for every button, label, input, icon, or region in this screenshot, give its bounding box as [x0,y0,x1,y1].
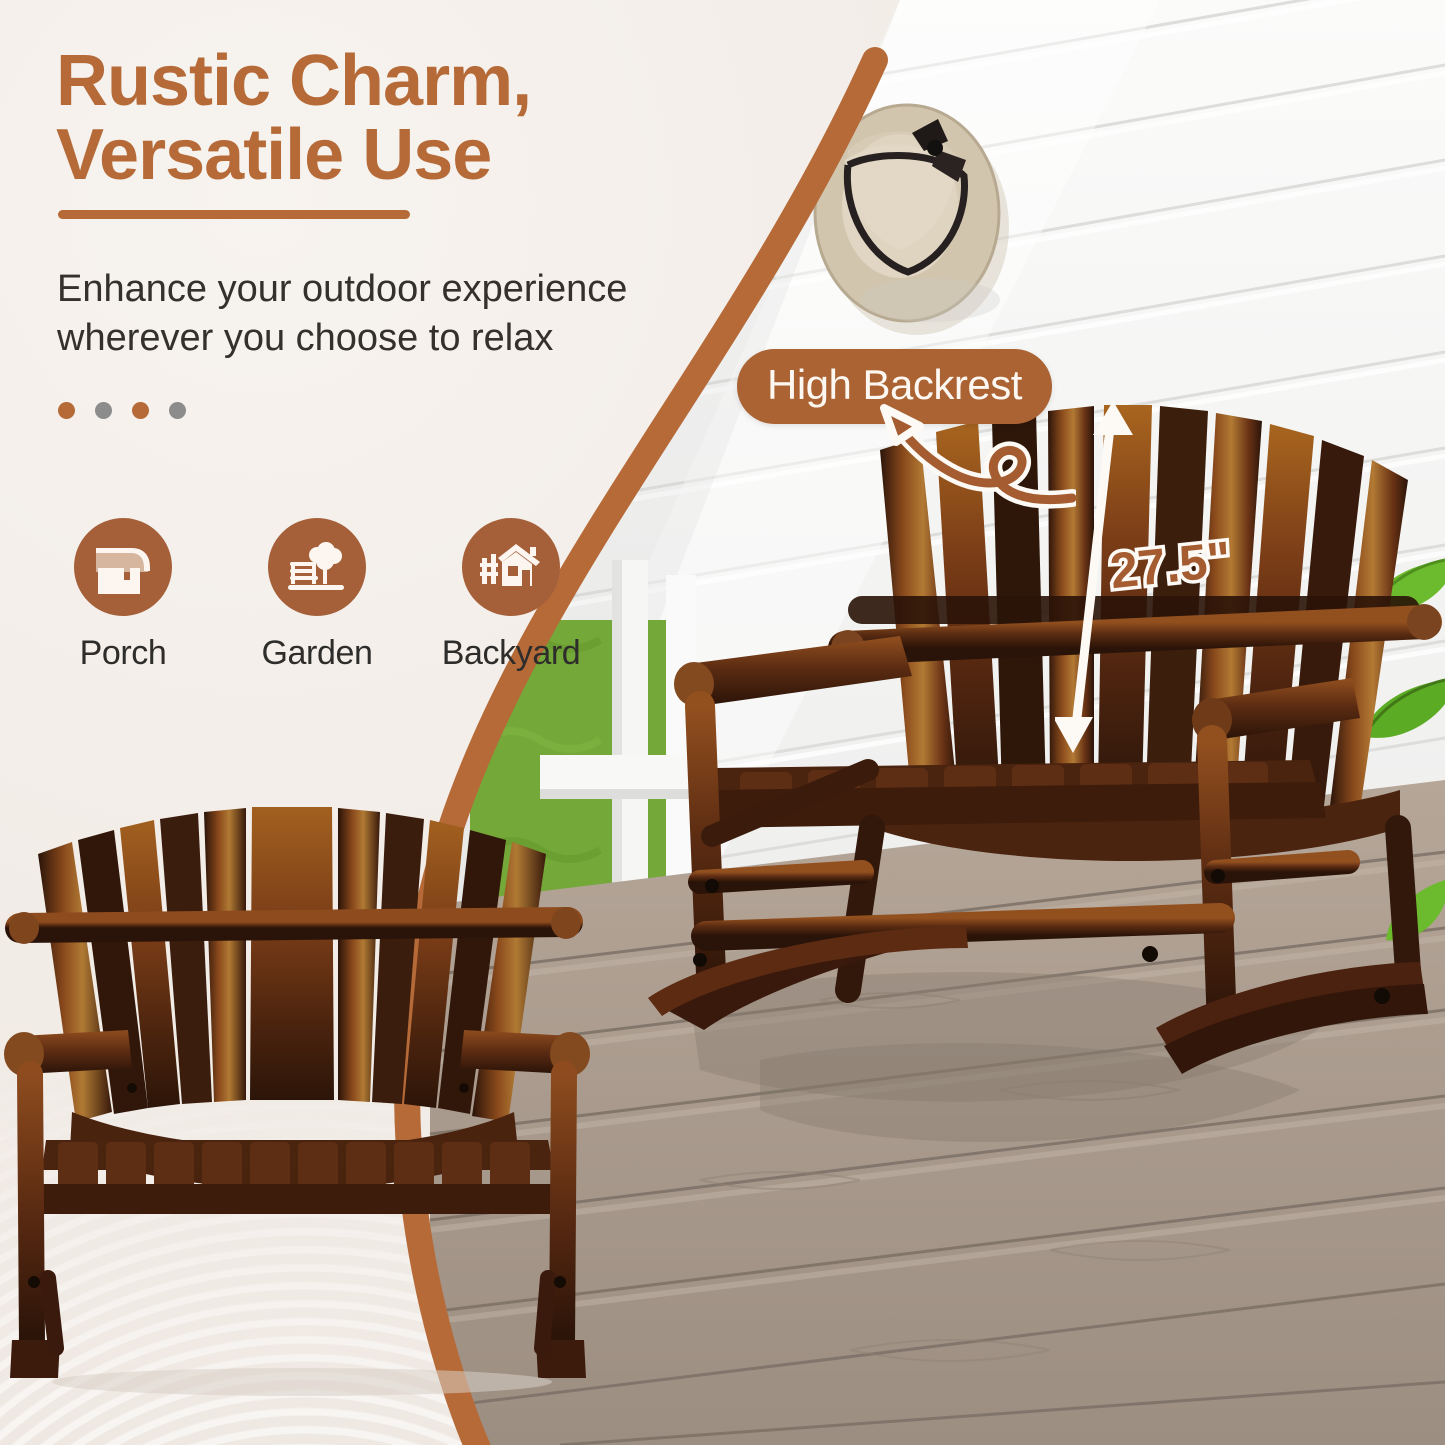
dot-4 [169,402,186,419]
title-line-1: Rustic Charm, [56,41,531,121]
feature-garden: Garden [242,518,392,673]
page-title: Rustic Charm, Versatile Use [56,44,696,192]
infographic-canvas: Rustic Charm, Versatile Use Enhance your… [0,0,1445,1445]
feature-icon-row: Porch [48,518,586,673]
curly-pointer-arrow-icon [876,400,1076,530]
feature-label-porch: Porch [48,634,198,673]
dot-2 [95,402,112,419]
product-image-rocking-bench [2,782,602,1402]
title-line-2: Versatile Use [56,118,696,192]
feature-label-backyard: Backyard [436,634,586,673]
backyard-house-fence-icon [462,518,560,616]
page-subtitle: Enhance your outdoor experience wherever… [57,265,747,364]
dot-3 [132,402,149,419]
title-underline-rule [58,210,410,219]
porch-awning-icon [74,518,172,616]
feature-backyard: Backyard [436,518,586,673]
decorative-dots [58,402,186,419]
feature-label-garden: Garden [242,634,392,673]
dot-1 [58,402,75,419]
garden-bench-tree-icon [268,518,366,616]
feature-porch: Porch [48,518,198,673]
